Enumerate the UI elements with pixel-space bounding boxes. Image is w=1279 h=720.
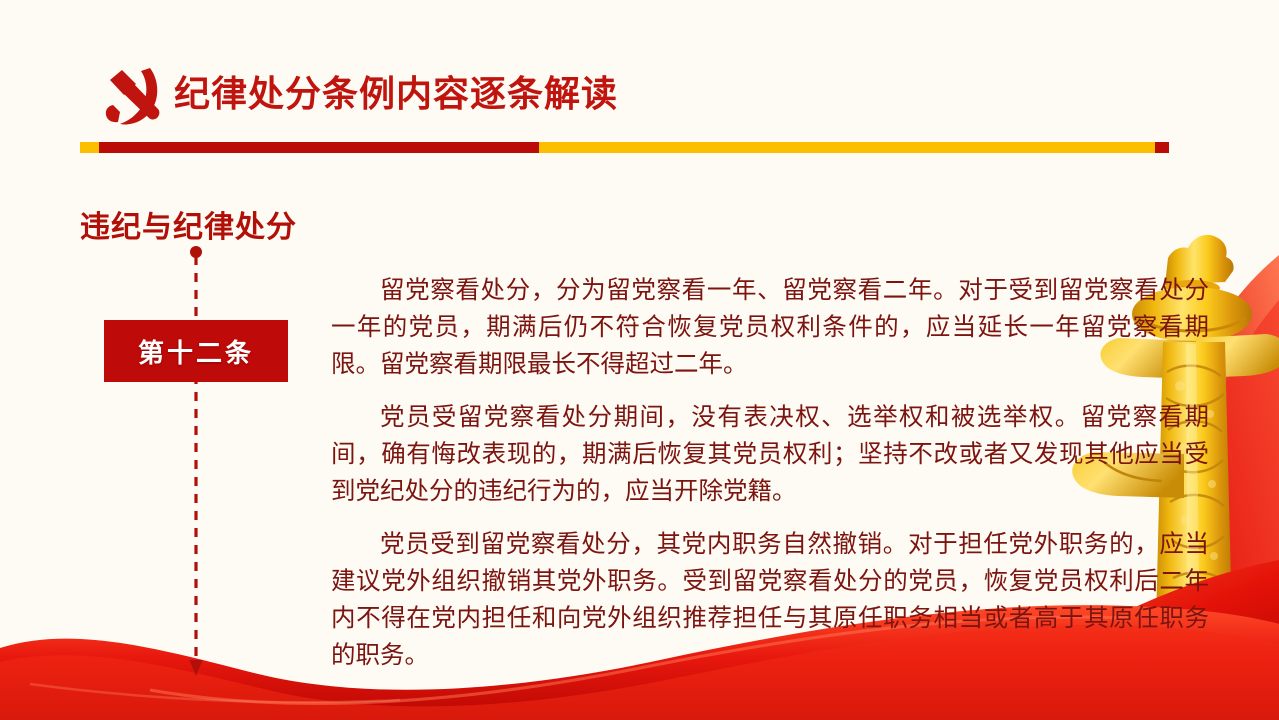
slide-header: 纪律处分条例内容逐条解读 bbox=[0, 0, 1279, 160]
paragraph: 党员受留党察看处分期间，没有表决权、选举权和被选举权。留党察看期间，确有悔改表现… bbox=[331, 399, 1209, 510]
paragraph: 留党察看处分，分为留党察看一年、留党察看二年。对于受到留党察看处分一年的党员，期… bbox=[331, 272, 1209, 383]
article-number-badge[interactable]: 第十二条 bbox=[104, 320, 288, 382]
article-body: 留党察看处分，分为留党察看一年、留党察看二年。对于受到留党察看处分一年的党员，期… bbox=[331, 272, 1209, 674]
section-heading: 违纪与纪律处分 bbox=[80, 202, 297, 246]
divider-red-segment bbox=[99, 142, 539, 153]
divider-gold-left-cap bbox=[80, 142, 99, 153]
slide-canvas: 纪律处分条例内容逐条解读 违纪与纪律处分 第十二条 留党察看处分，分为留党察看一… bbox=[0, 0, 1279, 720]
page-title: 纪律处分条例内容逐条解读 bbox=[174, 68, 618, 120]
article-number-label: 第十二条 bbox=[138, 333, 254, 370]
paragraph: 党员受到留党察看处分，其党内职务自然撤销。对于担任党外职务的，应当建议党外组织撤… bbox=[331, 526, 1209, 674]
timeline-connector bbox=[178, 246, 214, 678]
divider-gold-segment bbox=[539, 142, 1155, 153]
arrow-down-icon bbox=[190, 660, 203, 676]
divider-red-right-cap bbox=[1155, 142, 1169, 153]
cpc-hammer-sickle-emblem-icon bbox=[96, 62, 168, 130]
